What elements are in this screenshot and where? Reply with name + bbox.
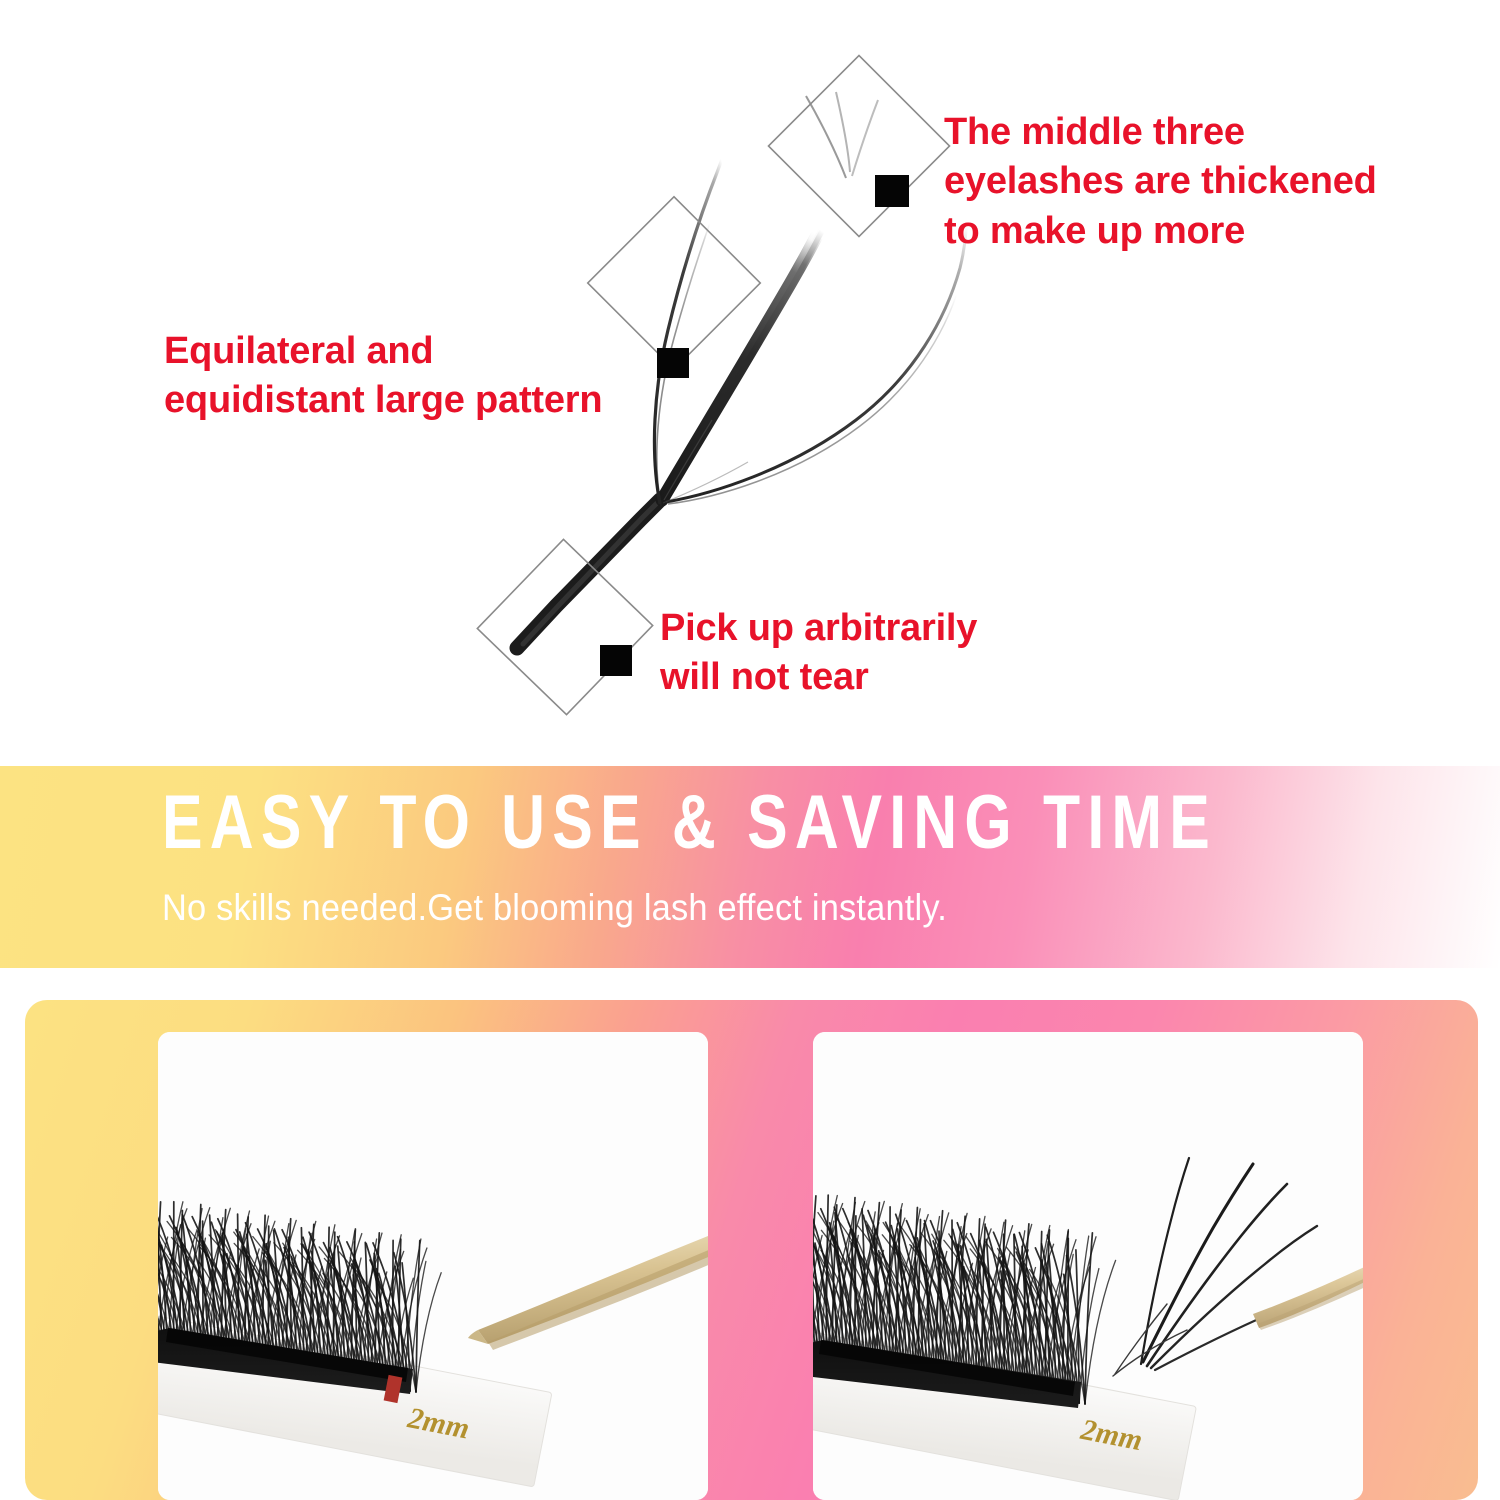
lash-tray-fan-pickup-image: 2mm [813, 1032, 1363, 1500]
diamond-marker-top [768, 55, 949, 236]
callout-middle-three: The middle three eyelashes are thickened… [944, 108, 1377, 256]
callout-equilateral: Equilateral and equidistant large patter… [164, 327, 602, 426]
product-infographic: The middle three eyelashes are thickened… [0, 0, 1500, 1500]
photo-card-left: 2mm [158, 1032, 708, 1500]
lash-tray-with-tweezers-image: 2mm [158, 1032, 708, 1500]
lash-bristle [952, 1220, 953, 1384]
photo-card-right: 2mm [813, 1032, 1363, 1500]
banner-title: EASY TO USE & SAVING TIME [162, 783, 1217, 863]
photo-panel: 2mm [25, 1000, 1478, 1500]
callout-pick-up: Pick up arbitrarily will not tear [660, 604, 977, 703]
diamond-marker-bottom [477, 539, 652, 714]
banner-subtitle: No skills needed.Get blooming lash effec… [162, 886, 947, 930]
diamond-marker-middle [588, 197, 761, 378]
lash-diagram-section: The middle three eyelashes are thickened… [0, 0, 1500, 765]
headline-banner: EASY TO USE & SAVING TIME No skills need… [0, 766, 1500, 968]
